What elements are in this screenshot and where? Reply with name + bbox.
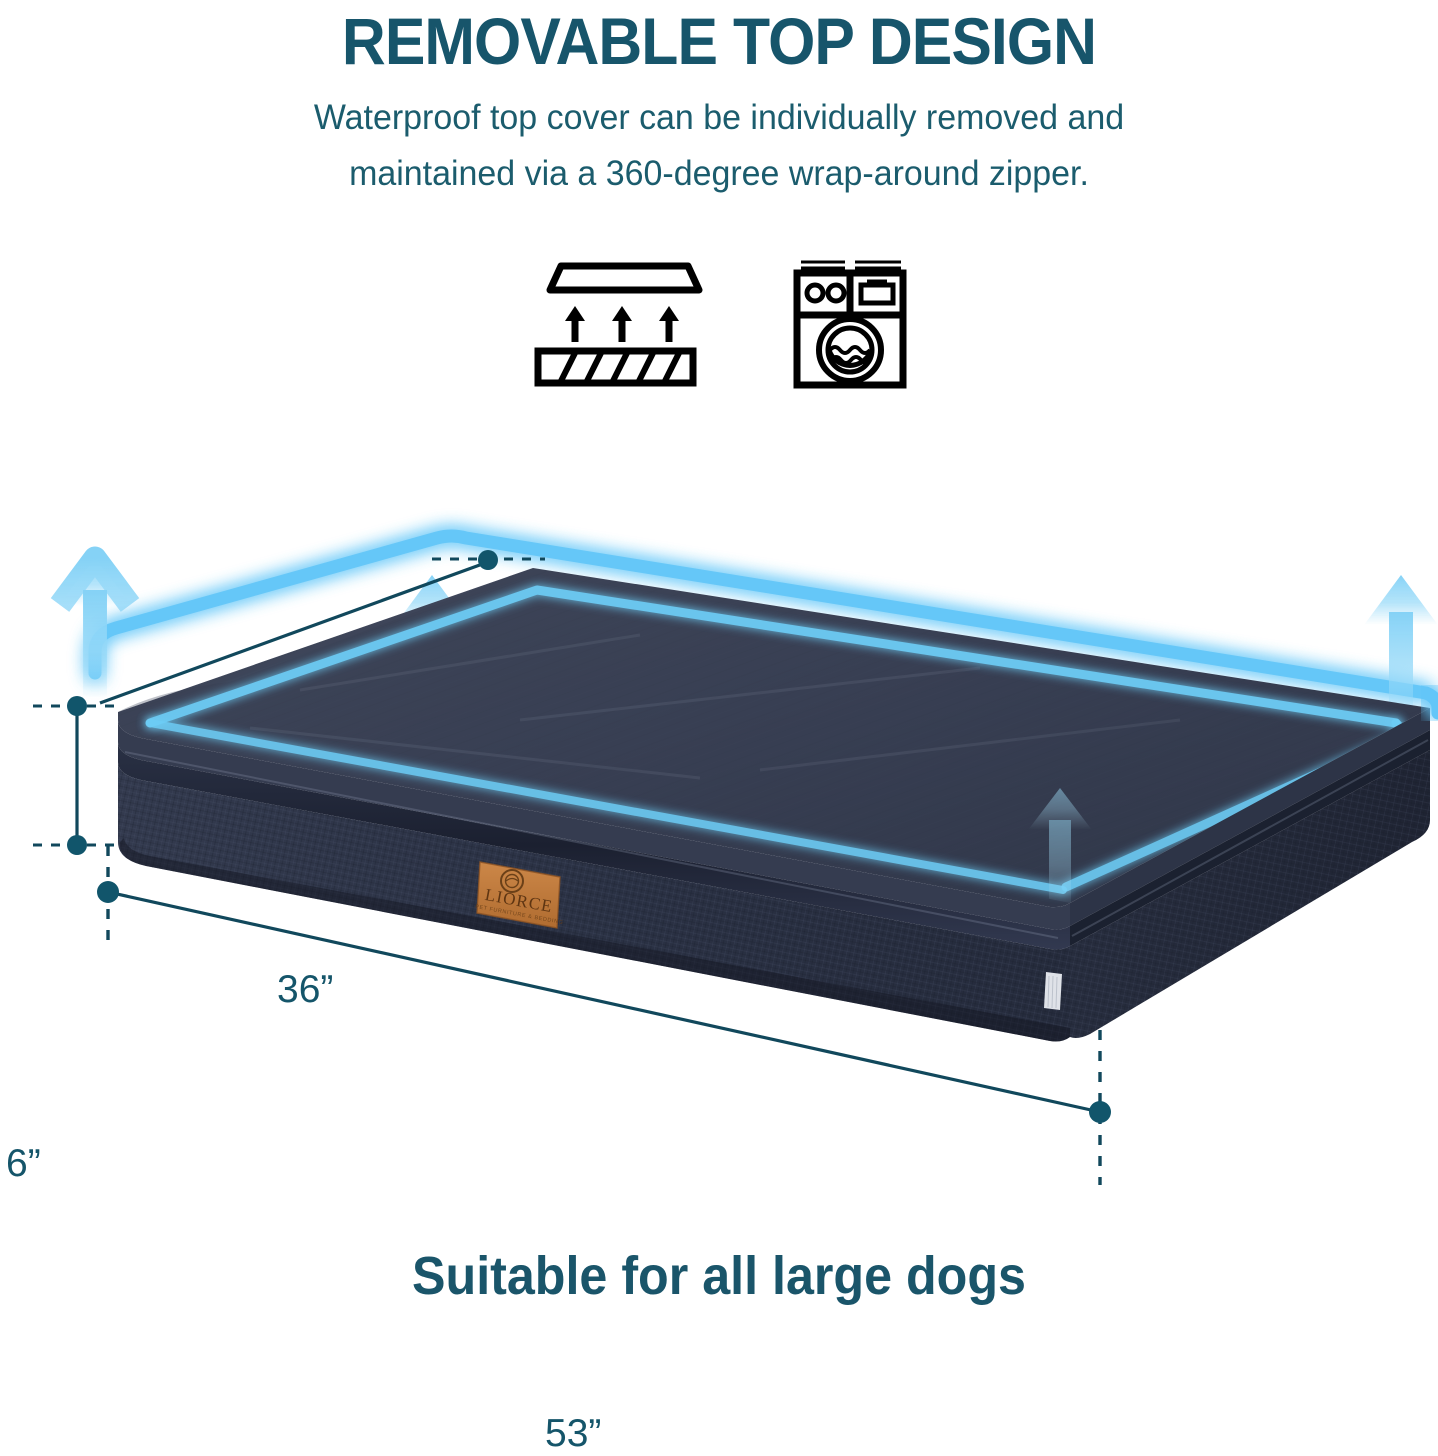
removable-cover-icon: [528, 258, 703, 393]
product-illustration: LIORCE PET FURNITURE & BEDDING: [0, 390, 1438, 1220]
dimension-dot-53-start: [97, 881, 119, 903]
washing-machine-icon: [789, 258, 911, 395]
care-tag: [1044, 972, 1062, 1010]
footer: Suitable for all large dogs: [0, 1245, 1438, 1307]
infographic-root: REMOVABLE TOP DESIGN Waterproof top cove…: [0, 0, 1438, 1315]
footer-tagline: Suitable for all large dogs: [50, 1245, 1387, 1307]
product-scene: LIORCE PET FURNITURE & BEDDING: [0, 390, 1438, 1220]
subtitle-line-2: maintained via a 360-degree wrap-around …: [22, 146, 1417, 202]
subtitle-line-1: Waterproof top cover can be individually…: [22, 90, 1417, 146]
dimension-label-height: 6”: [6, 1142, 41, 1186]
dimension-dot-6-top: [67, 696, 87, 716]
dimension-dot-36-end: [478, 550, 498, 570]
feature-icon-row: [0, 258, 1438, 395]
dimension-dot-6-bottom: [67, 835, 87, 855]
header: REMOVABLE TOP DESIGN Waterproof top cove…: [0, 0, 1438, 202]
dimension-label-length: 53”: [545, 1412, 601, 1456]
dimension-label-width: 36”: [277, 968, 333, 1012]
dimension-dot-53-end: [1089, 1101, 1111, 1123]
page-title: REMOVABLE TOP DESIGN: [58, 0, 1381, 78]
